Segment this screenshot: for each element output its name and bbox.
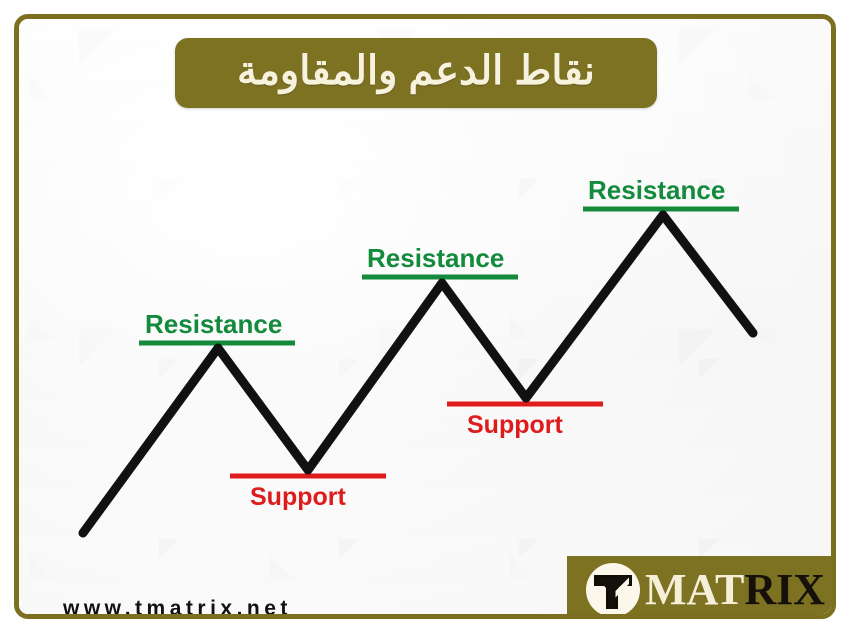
tmatrix-logo: MATRIX [567,556,836,619]
resistance-1-label: Resistance [145,311,282,337]
resistance-2-label: Resistance [367,245,504,271]
support-resistance-chart [19,19,836,619]
page-title: نقاط الدعم والمقاومة [237,51,595,95]
support-1-label: Support [250,485,346,510]
title-badge: نقاط الدعم والمقاومة [175,38,657,108]
resistance-3-label: Resistance [588,177,725,203]
logo-word-dark: RIX [744,565,825,614]
poster-canvas: ResistanceSupportResistanceSupportResist… [0,0,850,633]
logo-word-light: MAT [645,565,744,614]
t-circle-icon [585,562,641,618]
logo-wordmark: MATRIX [645,568,825,612]
site-url-text: www.tmatrix.net [63,597,292,619]
support-2-label: Support [467,413,563,438]
